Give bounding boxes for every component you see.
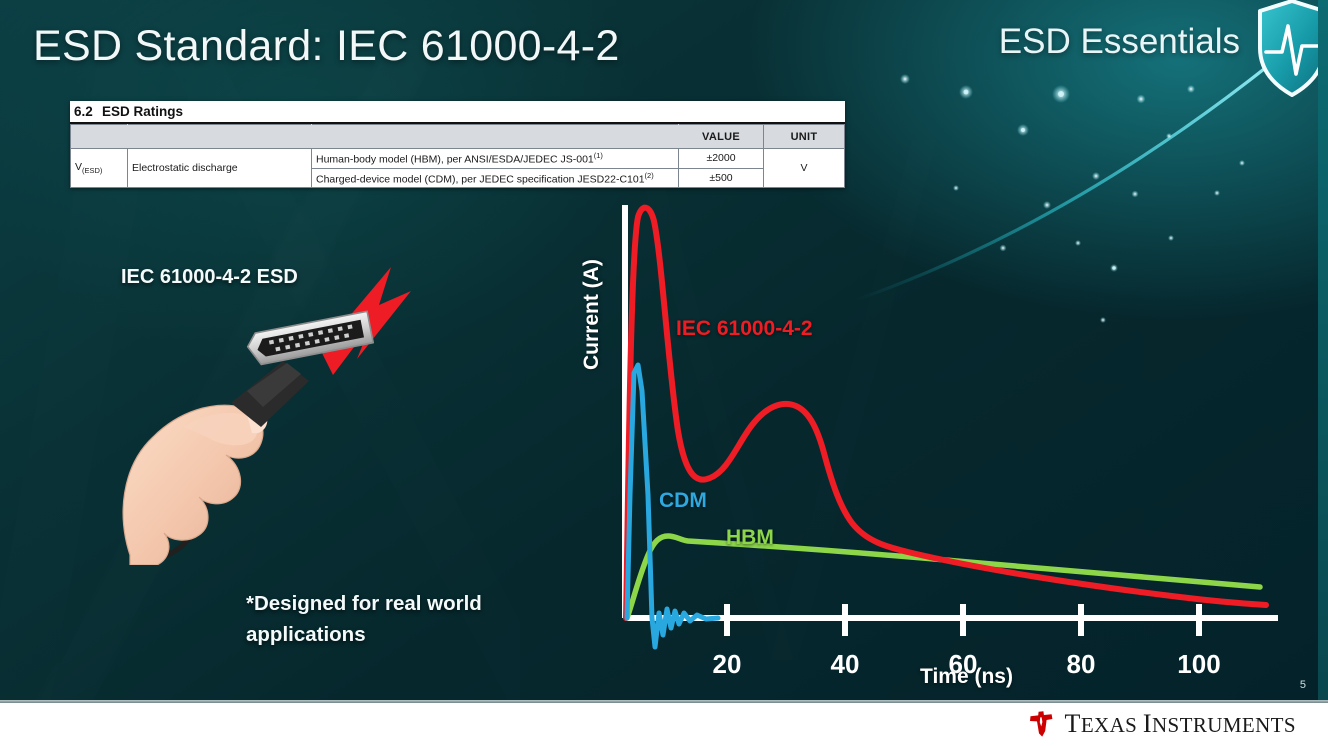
col-description [312, 125, 679, 149]
series-hbm-line [627, 536, 1260, 618]
xtick-40: 40 [831, 649, 860, 679]
ti-texas-icon [1026, 709, 1056, 739]
footnote-2: (2) [645, 171, 654, 180]
series-label-hbm: HBM [726, 526, 774, 550]
esd-waveform-chart: 20 40 60 80 100 [560, 195, 1320, 695]
cell-symbol: V(ESD) [71, 149, 128, 188]
col-parameter [128, 125, 312, 149]
symbol-base: V [75, 161, 82, 173]
page-title: ESD Standard: IEC 61000-4-2 [33, 22, 620, 71]
section-number: 6.2 [74, 104, 102, 119]
slide-root: ESD Standard: IEC 61000-4-2 ESD Essentia… [0, 0, 1328, 746]
section-title: ESD Ratings [102, 104, 183, 119]
cell-unit: V [764, 149, 845, 188]
symbol-sub: (ESD) [82, 166, 102, 175]
xtick-20: 20 [713, 649, 742, 679]
xtick-100: 100 [1177, 649, 1220, 679]
xtick-80: 80 [1067, 649, 1096, 679]
designed-note: *Designed for real world applications [246, 589, 546, 651]
x-axis-label: Time (ns) [920, 665, 1013, 689]
hand-holding-hdmi-connector [95, 255, 435, 565]
cell-value: ±2000 [679, 149, 764, 169]
cell-description: Charged-device model (CDM), per JEDEC sp… [312, 168, 679, 188]
desc-text-hbm: Human-body model (HBM), per ANSI/ESDA/JE… [316, 154, 594, 166]
y-axis-label: Current (A) [580, 340, 604, 370]
series-label-cdm: CDM [659, 489, 707, 513]
table-section-header: 6.2ESD Ratings [70, 101, 845, 124]
series-label-iec: IEC 61000-4-2 [676, 317, 813, 341]
col-unit: UNIT [764, 125, 845, 149]
brand-label: ESD Essentials [999, 22, 1240, 62]
col-value: VALUE [679, 125, 764, 149]
series-iec-line [626, 208, 1266, 618]
col-symbol [71, 125, 128, 149]
cell-description: Human-body model (HBM), per ANSI/ESDA/JE… [312, 149, 679, 169]
esd-ratings-table: 6.2ESD Ratings VALUE UNIT V(ESD) Electr [70, 101, 845, 188]
footnote-1: (1) [594, 151, 603, 160]
table-row: V(ESD) Electrostatic discharge Human-bod… [71, 149, 845, 169]
desc-text-cdm: Charged-device model (CDM), per JEDEC sp… [316, 173, 645, 185]
table-header-row: VALUE UNIT [71, 125, 845, 149]
cell-parameter: Electrostatic discharge [128, 149, 312, 188]
right-edge-rail [1318, 0, 1328, 703]
texas-instruments-logo: TEXAS INSTRUMENTS [1026, 709, 1296, 739]
cell-value: ±500 [679, 168, 764, 188]
page-number: 5 [1300, 679, 1306, 691]
slide-canvas: ESD Standard: IEC 61000-4-2 ESD Essentia… [0, 0, 1328, 703]
ti-wordmark: TEXAS INSTRUMENTS [1065, 709, 1296, 739]
shield-pulse-icon [1252, 0, 1328, 100]
slide-footer: TEXAS INSTRUMENTS [0, 703, 1328, 746]
